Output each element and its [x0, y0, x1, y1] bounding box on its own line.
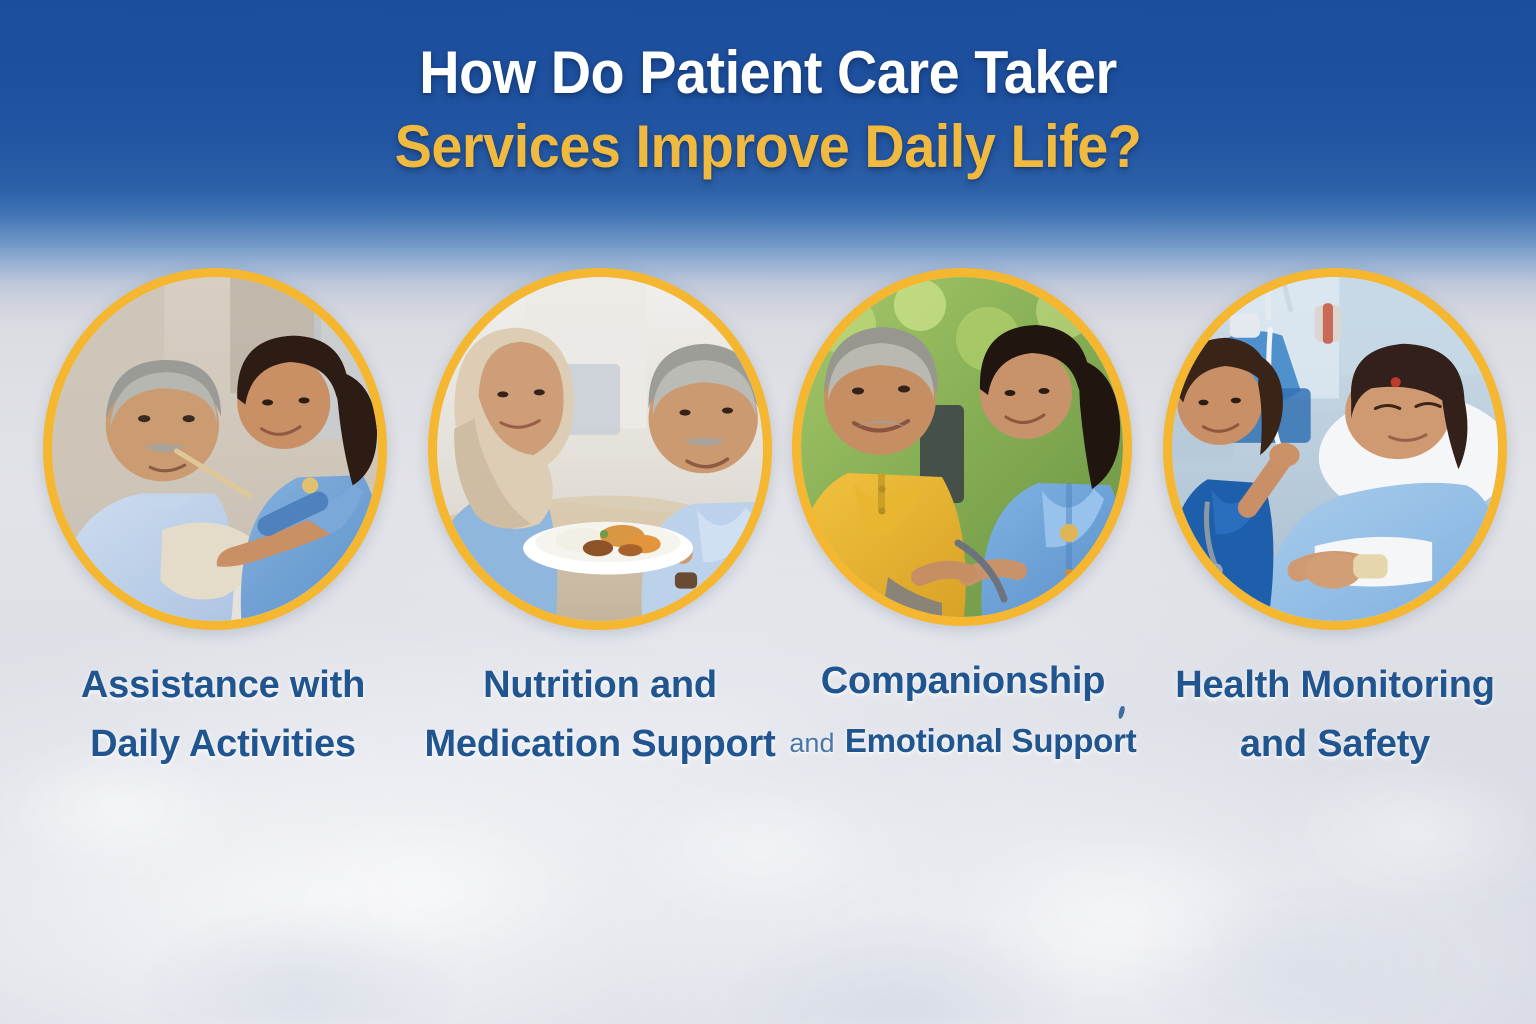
companionship-outdoor-photo	[801, 277, 1123, 617]
photo-4-artwork	[1172, 277, 1498, 621]
photo-2-artwork	[437, 277, 763, 621]
title-line-1: How Do Patient Care Taker	[54, 36, 1482, 110]
card-3-caption-emotional-support: Emotional Support	[845, 722, 1137, 759]
poster-title: How Do Patient Care Taker Services Impro…	[0, 36, 1536, 184]
photo-ring-1	[43, 268, 387, 630]
service-card-nutrition-medication-support: Nutrition and Medication Support	[428, 268, 772, 774]
nurse-iv-monitoring-photo	[1172, 277, 1498, 621]
photo-3-artwork	[801, 277, 1123, 617]
photo-ring-3	[792, 268, 1132, 626]
card-2-caption-line-2: Medication Support	[408, 715, 792, 774]
service-card-companionship-emotional-support: Companionship and Emotional Support	[792, 268, 1132, 773]
photo-1-artwork	[52, 277, 378, 621]
card-3-caption-line-1: Companionship	[778, 652, 1148, 711]
card-3-caption-and: and	[789, 728, 834, 758]
infographic-poster: How Do Patient Care Taker Services Impro…	[0, 0, 1536, 1024]
card-2-caption-line-1: Nutrition and	[408, 656, 792, 715]
card-3-caption: Companionship and Emotional Support	[778, 652, 1148, 773]
card-4-caption-line-2: and Safety	[1145, 715, 1525, 774]
caregiver-assisting-elderly-man-photo	[52, 277, 378, 621]
card-3-caption-line-2: and Emotional Support	[778, 711, 1148, 773]
caregiver-serving-meal-photo	[437, 277, 763, 621]
photo-ring-4	[1163, 268, 1507, 630]
service-card-assistance-daily-activities: Assistance with Daily Activities	[43, 268, 387, 774]
card-1-caption-line-2: Daily Activities	[51, 715, 395, 774]
service-card-health-monitoring-safety: Health Monitoring and Safety	[1163, 268, 1507, 774]
title-line-2: Services Improve Daily Life?	[54, 110, 1482, 184]
card-4-caption-line-1: Health Monitoring	[1145, 656, 1525, 715]
photo-ring-2	[428, 268, 772, 630]
card-1-caption-line-1: Assistance with	[51, 656, 395, 715]
card-4-caption: Health Monitoring and Safety	[1145, 656, 1525, 774]
card-1-caption: Assistance with Daily Activities	[51, 656, 395, 774]
card-2-caption: Nutrition and Medication Support	[408, 656, 792, 774]
